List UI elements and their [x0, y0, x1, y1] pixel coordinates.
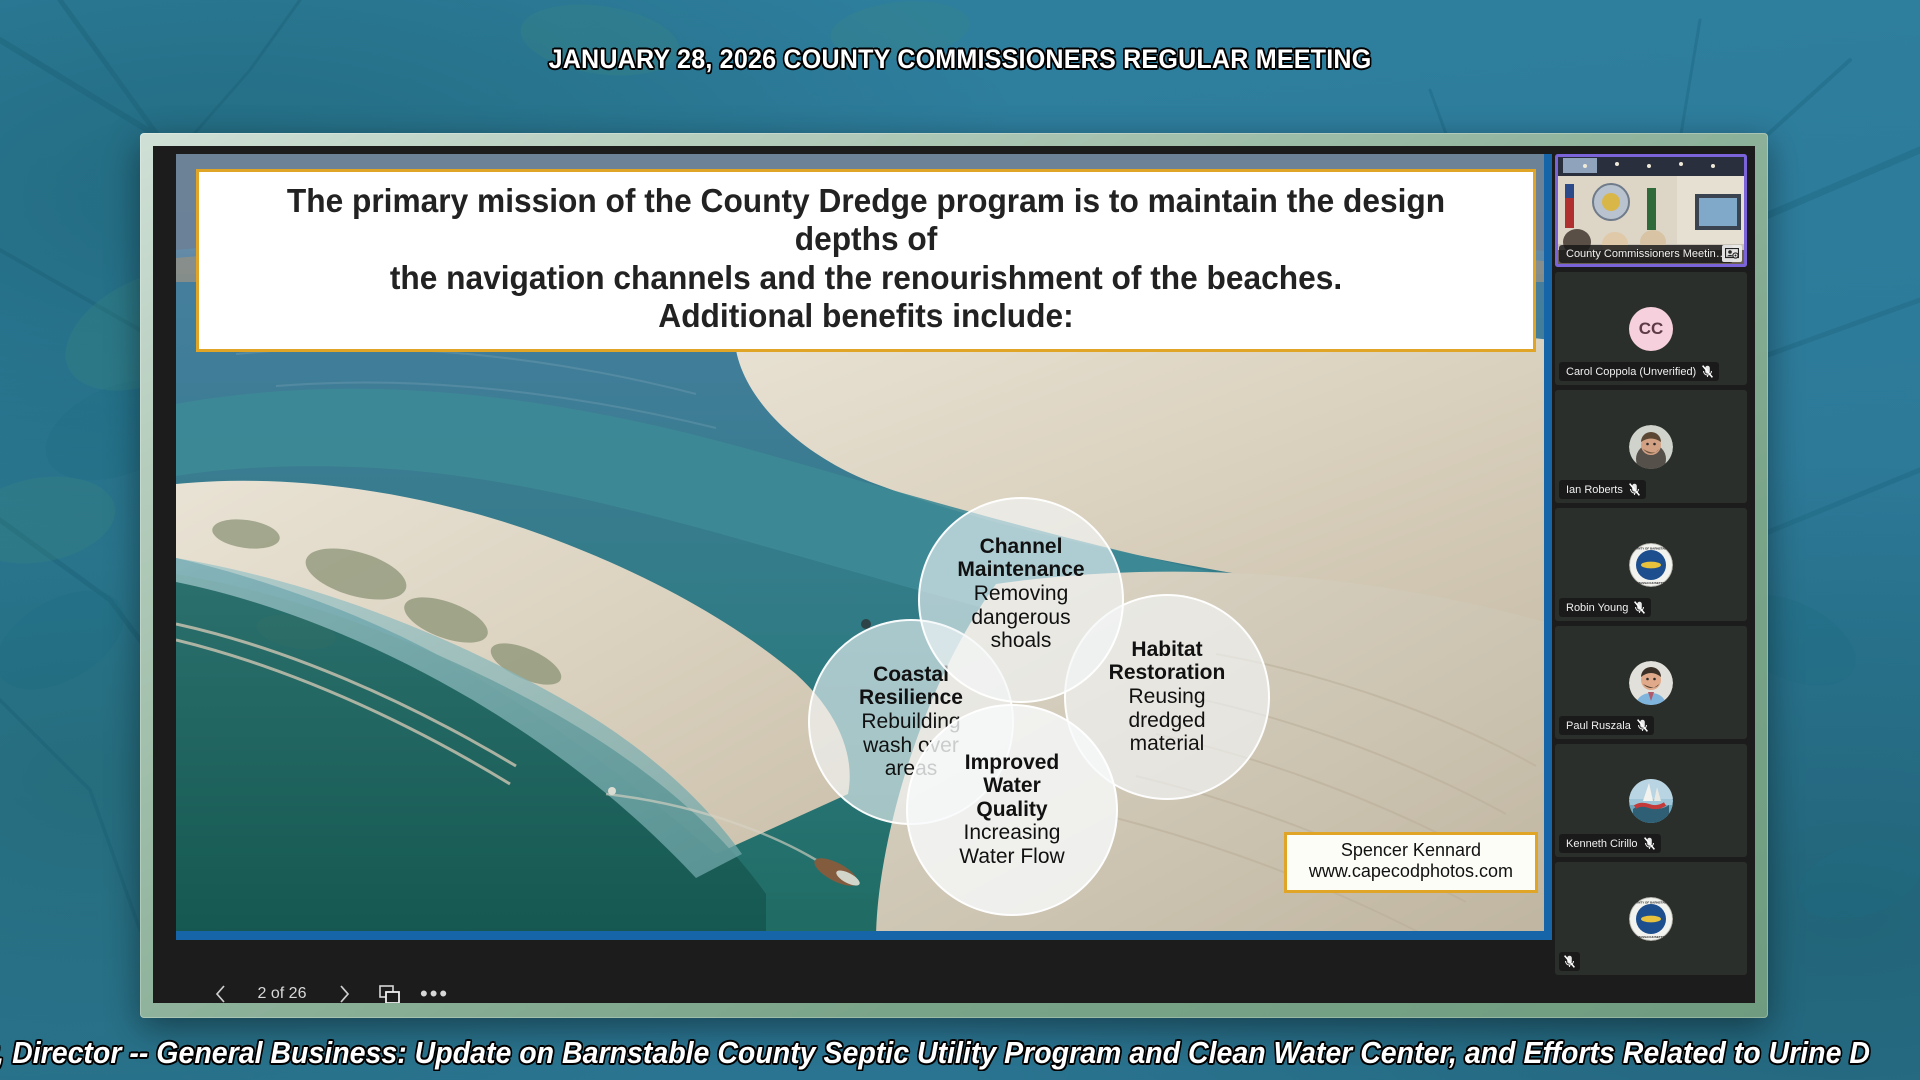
venn-title: Habitat	[1109, 638, 1226, 662]
microphone-muted-icon	[1634, 601, 1645, 614]
slide-title-line-1: The primary mission of the County Dredge…	[247, 182, 1485, 259]
participant-name: Carol Coppola (Unverified)	[1566, 366, 1696, 378]
display-frame: The primary mission of the County Dredge…	[140, 133, 1768, 1018]
chevron-right-icon	[338, 984, 351, 1003]
slide-page-indicator: 2 of 26	[251, 985, 313, 1003]
avatar	[1629, 425, 1673, 469]
participant-name: Ian Roberts	[1566, 484, 1623, 496]
participant-name: Paul Ruszala	[1566, 720, 1631, 732]
venn-title: Improved	[959, 751, 1064, 775]
venn-desc: Removing	[957, 582, 1084, 606]
svg-text:MASSACHUSETTS: MASSACHUSETTS	[1637, 581, 1664, 585]
fit-to-screen-icon	[379, 985, 400, 1004]
fit-to-screen-button[interactable]	[375, 980, 403, 1003]
venn-desc: material	[1109, 732, 1226, 756]
participant-tile-paul-ruszala[interactable]: Paul Ruszala	[1555, 626, 1747, 739]
chevron-left-icon	[214, 984, 227, 1003]
microphone-muted-icon	[1644, 837, 1655, 850]
venn-desc: shoals	[957, 629, 1084, 653]
venn-desc: Reusing	[1109, 685, 1226, 709]
broadcast-banner-title: JANUARY 28, 2026 COUNTY COMMISSIONERS RE…	[67, 44, 1853, 75]
venn-title: Maintenance	[957, 558, 1084, 582]
next-slide-button[interactable]	[330, 980, 358, 1003]
venn-title: Quality	[959, 798, 1064, 822]
avatar-photo	[1629, 661, 1673, 705]
venn-desc: Increasing	[959, 821, 1064, 845]
county-seal-icon: COUNTY OF BARNSTABLE MASSACHUSETTS	[1629, 543, 1673, 587]
participant-tile-kenneth-cirillo[interactable]: Kenneth Cirillo	[1555, 744, 1747, 857]
svg-text:MASSACHUSETTS: MASSACHUSETTS	[1637, 935, 1664, 939]
venn-circle-improved-water-quality: Improved Water Quality Increasing Water …	[906, 704, 1118, 916]
participant-name: County Commissioners Meetin…	[1566, 248, 1727, 260]
venn-title: Restoration	[1109, 661, 1226, 685]
participant-name-label: Paul Ruszala	[1559, 716, 1654, 735]
participant-tile-unnamed[interactable]: COUNTY OF BARNSTABLE MASSACHUSETTS	[1555, 862, 1747, 975]
meeting-window: The primary mission of the County Dredge…	[153, 146, 1755, 1003]
meeting-stage: The primary mission of the County Dredge…	[153, 146, 1755, 1003]
microphone-muted-icon	[1637, 719, 1648, 732]
participant-name-label: Robin Young	[1559, 598, 1651, 617]
avatar: COUNTY OF BARNSTABLE MASSACHUSETTS	[1629, 543, 1673, 587]
participant-tile-active-speaker[interactable]: County Commissioners Meetin…	[1555, 154, 1747, 267]
participant-name-label: Ian Roberts	[1559, 480, 1646, 499]
participant-tile-robin-young[interactable]: COUNTY OF BARNSTABLE MASSACHUSETTS Robin…	[1555, 508, 1747, 621]
participant-tile-ian-roberts[interactable]: Ian Roberts	[1555, 390, 1747, 503]
venn-desc: dangerous	[957, 606, 1084, 630]
ticker-text: ter, Director -- General Business: Updat…	[0, 1035, 1870, 1071]
microphone-muted-icon	[1564, 955, 1575, 968]
participant-name: Kenneth Cirillo	[1566, 838, 1638, 850]
photo-credit-url: www.capecodphotos.com	[1309, 861, 1513, 883]
slide-navigation-bar: 2 of 26 •••	[206, 980, 449, 1003]
svg-text:COUNTY OF BARNSTABLE: COUNTY OF BARNSTABLE	[1632, 546, 1671, 550]
participant-name-label	[1559, 952, 1580, 971]
venn-circle-channel-maintenance: Channel Maintenance Removing dangerous s…	[918, 497, 1124, 703]
previous-slide-button[interactable]	[206, 980, 234, 1003]
broadcast-ticker: ter, Director -- General Business: Updat…	[0, 1035, 1920, 1071]
shared-content-region[interactable]: The primary mission of the County Dredge…	[176, 154, 1560, 966]
participant-tile-carol-coppola[interactable]: CC Carol Coppola (Unverified)	[1555, 272, 1747, 385]
participant-name-label: Carol Coppola (Unverified)	[1559, 362, 1719, 381]
photo-credit-box: Spencer Kennard www.capecodphotos.com	[1284, 832, 1538, 893]
screen-share-badge	[1722, 245, 1742, 262]
venn-desc: Water Flow	[959, 845, 1064, 869]
more-options-button[interactable]: •••	[420, 989, 449, 999]
avatar-photo	[1629, 779, 1673, 823]
participant-name: Robin Young	[1566, 602, 1628, 614]
photo-credit-name: Spencer Kennard	[1309, 840, 1513, 862]
svg-text:COUNTY OF BARNSTABLE: COUNTY OF BARNSTABLE	[1632, 900, 1671, 904]
microphone-muted-icon	[1629, 483, 1640, 496]
microphone-muted-icon	[1702, 365, 1713, 378]
slide-title-box: The primary mission of the County Dredge…	[196, 169, 1536, 352]
slide-title-line-2: the navigation channels and the renouris…	[247, 259, 1485, 297]
venn-title: Water	[959, 774, 1064, 798]
presentation-slide[interactable]: The primary mission of the County Dredge…	[176, 154, 1552, 940]
county-seal-icon: COUNTY OF BARNSTABLE MASSACHUSETTS	[1629, 897, 1673, 941]
avatar	[1629, 661, 1673, 705]
venn-title: Channel	[957, 535, 1084, 559]
avatar-initials: CC	[1639, 319, 1664, 339]
venn-title: Resilience	[859, 686, 963, 710]
avatar: COUNTY OF BARNSTABLE MASSACHUSETTS	[1629, 897, 1673, 941]
avatar-photo	[1629, 425, 1673, 469]
avatar: CC	[1629, 307, 1673, 351]
participant-filmstrip[interactable]: County Commissioners Meetin…	[1555, 154, 1747, 982]
participant-name-label: County Commissioners Meetin…	[1559, 245, 1733, 263]
screen-share-icon	[1725, 248, 1739, 260]
avatar	[1629, 779, 1673, 823]
participant-name-label: Kenneth Cirillo	[1559, 834, 1661, 853]
slide-title-line-3: Additional benefits include:	[247, 297, 1485, 335]
venn-desc: dredged	[1109, 709, 1226, 733]
